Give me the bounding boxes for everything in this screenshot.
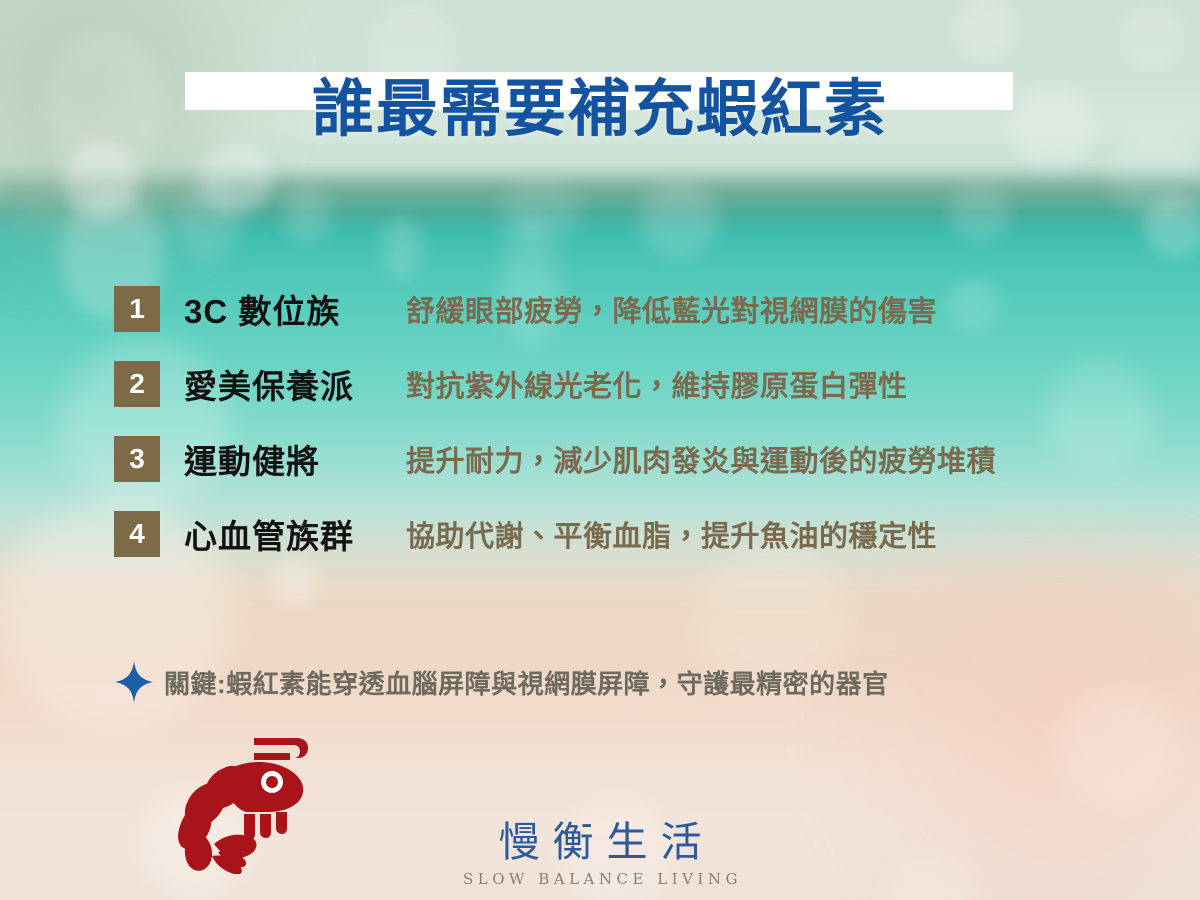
key-note-text: 關鍵:蝦紅素能穿透血腦屏障與視網膜屏障，守護最精密的器官 <box>164 664 889 701</box>
list-item-description: 舒緩眼部疲勞，降低藍光對視網膜的傷害 <box>406 288 1124 330</box>
background-tint-left <box>0 0 300 290</box>
list-item[interactable]: 2 愛美保養派 對抗紫外線光老化，維持膠原蛋白彈性 <box>114 361 1124 407</box>
sparkle-icon <box>114 660 154 704</box>
list-item-description: 協助代謝、平衡血脂，提升魚油的穩定性 <box>406 513 1124 555</box>
list-item-description: 對抗紫外線光老化，維持膠原蛋白彈性 <box>406 363 1124 405</box>
poster-canvas: 誰最需要補充蝦紅素 1 3C 數位族 舒緩眼部疲勞，降低藍光對視網膜的傷害 2 … <box>0 0 1200 900</box>
page-title: 誰最需要補充蝦紅素 <box>312 76 888 141</box>
list-item[interactable]: 3 運動健將 提升耐力，減少肌肉發炎與運動後的疲勞堆積 <box>114 436 1124 482</box>
list-item-label: 心血管族群 <box>184 510 406 558</box>
list-item-number-badge: 1 <box>114 286 160 332</box>
brand-name-en: SLOW BALANCE LIVING <box>0 870 1200 888</box>
list-item-description: 提升耐力，減少肌肉發炎與運動後的疲勞堆積 <box>406 438 1124 480</box>
list-item[interactable]: 1 3C 數位族 舒緩眼部疲勞，降低藍光對視網膜的傷害 <box>114 286 1124 332</box>
list-item[interactable]: 4 心血管族群 協助代謝、平衡血脂，提升魚油的穩定性 <box>114 511 1124 557</box>
brand-logo: 慢衡生活 SLOW BALANCE LIVING <box>0 817 1200 888</box>
brand-name-cn: 慢衡生活 <box>0 817 1200 868</box>
list-item-number-badge: 3 <box>114 436 160 482</box>
list-item-label: 運動健將 <box>184 435 406 483</box>
key-note: 關鍵:蝦紅素能穿透血腦屏障與視網膜屏障，守護最精密的器官 <box>114 660 889 704</box>
audience-list: 1 3C 數位族 舒緩眼部疲勞，降低藍光對視網膜的傷害 2 愛美保養派 對抗紫外… <box>114 286 1124 586</box>
list-item-number-badge: 4 <box>114 511 160 557</box>
list-item-label: 愛美保養派 <box>184 360 406 408</box>
list-item-number-badge: 2 <box>114 361 160 407</box>
list-item-label: 3C 數位族 <box>184 285 406 333</box>
title-block: 誰最需要補充蝦紅素 <box>0 76 1200 141</box>
